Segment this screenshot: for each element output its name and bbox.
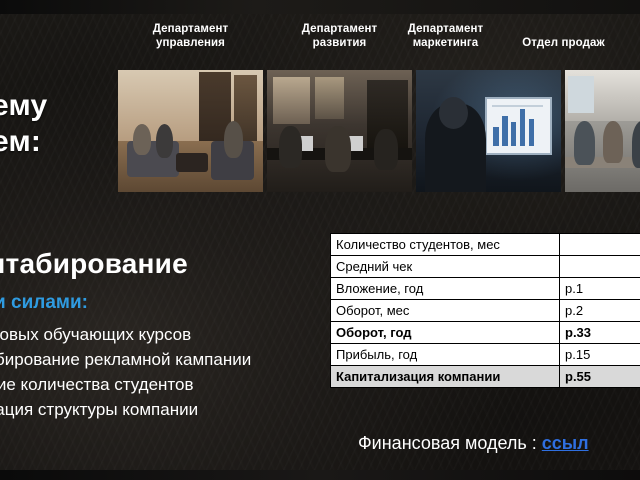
table-row: Оборот, мес р.2: [331, 300, 640, 322]
financial-model-link[interactable]: ссыл: [542, 433, 589, 453]
table-row: Оборот, год р.33: [331, 322, 640, 344]
section-title: штабирование: [0, 248, 188, 280]
table-row: Вложение, год р.1: [331, 278, 640, 300]
department-label-line: управления: [118, 36, 263, 50]
headline-line: ем:: [0, 124, 47, 160]
table-cell-label: Количество студентов, мес: [331, 234, 560, 256]
table-cell-label: Капитализация компании: [331, 366, 560, 388]
table-row: Капитализация компании р.55: [331, 366, 640, 388]
footer-label: Финансовая модель :: [358, 433, 542, 453]
table-cell-label: Средний чек: [331, 256, 560, 278]
list-item: ение количества студентов: [0, 372, 251, 397]
department-label-management: Департамент управления: [118, 22, 263, 50]
photo-development-office: [267, 70, 412, 192]
table-cell-value: [560, 234, 640, 256]
photo-sales-team: [565, 70, 640, 192]
section-subtitle: ми силами:: [0, 292, 88, 314]
slide-canvas: Департамент управления Департамент разви…: [0, 0, 640, 480]
department-label-line: Департамент: [373, 22, 518, 36]
headline: ему ем:: [0, 88, 47, 160]
table-cell-value: р.55: [560, 366, 640, 388]
table-cell-value: р.2: [560, 300, 640, 322]
department-label-line: пар: [606, 50, 640, 64]
table-cell-value: р.1: [560, 278, 640, 300]
list-item: изация структуры компании: [0, 397, 251, 422]
photo-management-office: [118, 70, 263, 192]
table-cell-label: Оборот, год: [331, 322, 560, 344]
table-cell-label: Оборот, мес: [331, 300, 560, 322]
table-cell-label: Вложение, год: [331, 278, 560, 300]
table-row: Количество студентов, мес: [331, 234, 640, 256]
list-item: табирование рекламной кампании: [0, 347, 251, 372]
table-cell-value: р.33: [560, 322, 640, 344]
department-photo-strip: [118, 70, 640, 192]
photo-marketing-analyst: [416, 70, 561, 192]
bottom-edge-bar: [0, 470, 640, 480]
financial-model-table: Количество студентов, мес Средний чек Вл…: [330, 233, 640, 388]
bullet-list: к новых обучающих курсов табирование рек…: [0, 322, 251, 422]
table-cell-value: р.15: [560, 344, 640, 366]
department-labels-row: Департамент управления Департамент разви…: [118, 22, 640, 68]
table-cell-value: [560, 256, 640, 278]
top-edge-bar: [0, 0, 640, 14]
department-label-line: Департамент: [118, 22, 263, 36]
headline-line: ему: [0, 88, 47, 124]
footer-financial-model: Финансовая модель : ссыл: [358, 433, 589, 454]
department-label-line: Ан: [606, 22, 640, 36]
table-cell-label: Прибыль, год: [331, 344, 560, 366]
list-item: к новых обучающих курсов: [0, 322, 251, 347]
department-label-line: обучени: [606, 36, 640, 50]
table-row: Прибыль, год р.15: [331, 344, 640, 366]
table-row: Средний чек: [331, 256, 640, 278]
department-label-partners: Ан обучени пар: [606, 22, 640, 64]
